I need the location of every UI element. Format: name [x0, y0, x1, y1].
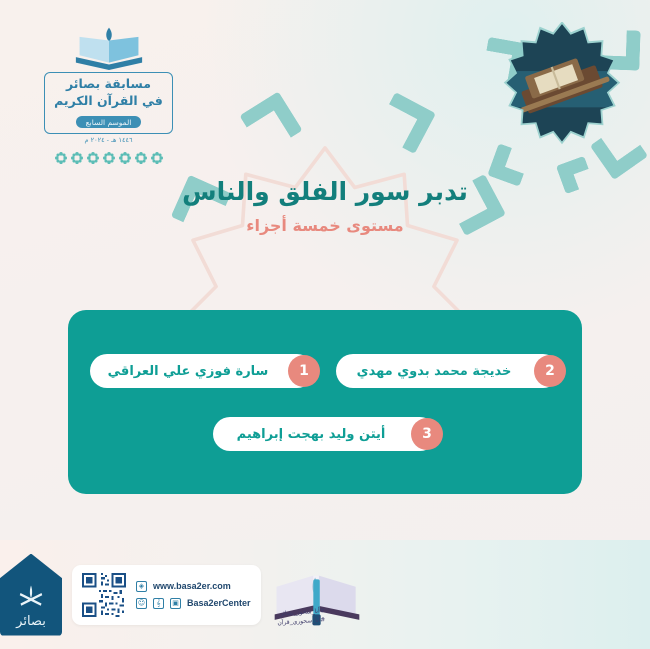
winner-pill-3[interactable]: أيتن وليد بهجت إبراهيم 3 [213, 417, 437, 451]
logo-season-badge: الموسم السابع [76, 116, 142, 128]
logo-date: ١٤٤٦ هـ - ٢٠٢٤ م [36, 136, 181, 144]
rosette-ornament-icon [151, 152, 163, 164]
twitter-icon[interactable]: 𝄞 [153, 598, 164, 609]
social-row[interactable]: ☺ 𝄞 ▣ Basa2erCenter [136, 598, 251, 609]
winners-row-top: خديجة محمد بدوي مهدي 2 سارة فوزي علي الع… [68, 354, 582, 388]
competition-logo: مسابقة بصائر في القرآن الكريم الموسم الس… [36, 24, 181, 164]
instagram-icon[interactable]: ▣ [170, 598, 181, 609]
open-quran-bookmark-icon: #أنا_سحور_بصائر #أنا_سحوري_قرآن [271, 562, 363, 628]
brand-name: بصائر [16, 614, 46, 629]
rosette-ornament-icon [103, 152, 115, 164]
winner-name: سارة فوزي علي العراقي [104, 364, 272, 379]
rosette-ornament-icon [71, 152, 83, 164]
poster-canvas: مسابقة بصائر في القرآن الكريم الموسم الس… [0, 0, 650, 649]
rosette-ornament-icon [135, 152, 147, 164]
rank-badge: 2 [534, 355, 566, 387]
snapchat-icon[interactable]: ☺ [136, 598, 147, 609]
footer-bar: #أنا_سحور_بصائر #أنا_سحوري_قرآن ◈ www.ba… [0, 540, 650, 649]
social-handle-text: Basa2erCenter [187, 598, 251, 608]
basa2er-brand-badge: بصائر [0, 554, 62, 636]
logo-text-frame: مسابقة بصائر في القرآن الكريم الموسم الس… [44, 72, 173, 134]
hashtag-block: #أنا_سحور_بصائر #أنا_سحوري_قرآن [276, 606, 325, 627]
winner-pill-2[interactable]: خديجة محمد بدوي مهدي 2 [336, 354, 560, 388]
title-block: تدبر سور الفلق والناس مستوى خمسة أجزاء [0, 176, 650, 235]
globe-icon: ◈ [136, 581, 147, 592]
open-book-icon [72, 24, 146, 70]
page-title: تدبر سور الفلق والناس [0, 176, 650, 207]
winners-card: خديجة محمد بدوي مهدي 2 سارة فوزي علي الع… [68, 310, 582, 494]
rosette-ornament-icon [87, 152, 99, 164]
winner-name: أيتن وليد بهجت إبراهيم [227, 427, 395, 442]
swords-palm-emblem-icon [16, 581, 46, 611]
rosette-row [36, 152, 181, 164]
logo-line-1: مسابقة بصائر [54, 76, 163, 93]
winner-pill-1[interactable]: سارة فوزي علي العراقي 1 [90, 354, 314, 388]
rosette-ornament-icon [55, 152, 67, 164]
rosette-ornament-icon [119, 152, 131, 164]
rank-badge: 1 [288, 355, 320, 387]
contact-lines: ◈ www.basa2er.com ☺ 𝄞 ▣ Basa2erCenter [136, 581, 251, 609]
website-text: www.basa2er.com [153, 581, 231, 591]
winner-name: خديجة محمد بدوي مهدي [350, 364, 518, 379]
rank-badge: 3 [411, 418, 443, 450]
qr-code-icon[interactable] [82, 573, 126, 617]
website-row[interactable]: ◈ www.basa2er.com [136, 581, 251, 592]
winners-row-bottom: أيتن وليد بهجت إبراهيم 3 [68, 417, 582, 451]
page-subtitle: مستوى خمسة أجزاء [0, 216, 650, 235]
quran-on-rehal-photo [498, 22, 626, 150]
logo-line-2: في القرآن الكريم [54, 93, 163, 110]
contact-card: ◈ www.basa2er.com ☺ 𝄞 ▣ Basa2erCenter [72, 565, 261, 625]
